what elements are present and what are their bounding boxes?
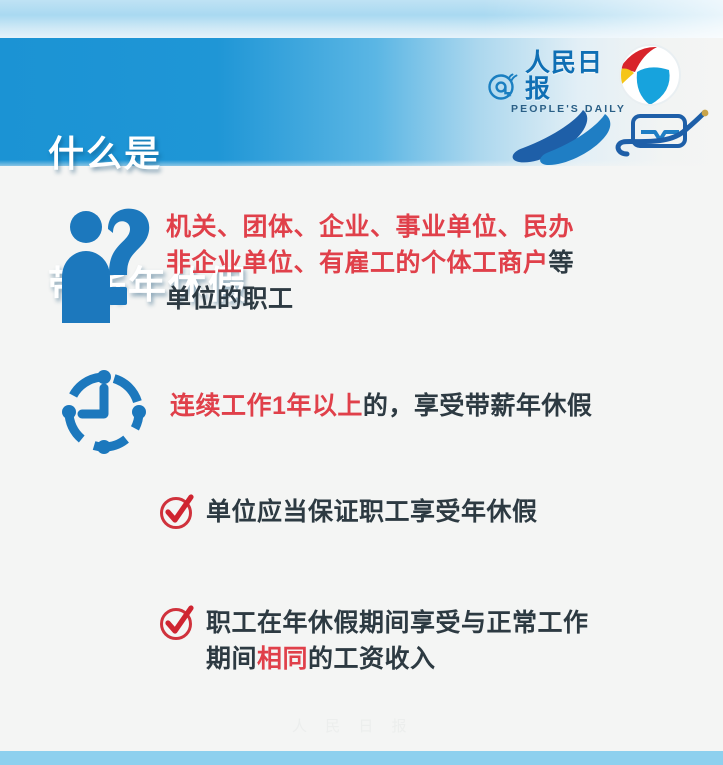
check-circle-icon xyxy=(158,493,196,536)
logo-chinese-name: 人民日报 xyxy=(525,50,617,102)
sky-gradient-strip xyxy=(0,0,723,40)
watermark: 人 民 日 报 xyxy=(292,715,414,736)
infographic-page: 什么是 带薪年休假 人民日报 PEOPLE'S DAILY xyxy=(0,0,723,765)
clock-icon xyxy=(58,366,150,463)
title-line-1: 什么是 xyxy=(48,132,248,176)
at-sign-icon xyxy=(487,68,521,102)
list-item-text: 机关、团体、企业、事业单位、民办 非企业单位、有雇工的个体工商户等 单位的职工 xyxy=(166,209,574,317)
list-item-tail: 的工资收入 xyxy=(308,645,436,673)
bottom-bar xyxy=(0,751,723,765)
list-item-tail: 单位应当保证职工享受年休假 xyxy=(206,498,538,526)
logo-row: 人民日报 xyxy=(487,50,617,102)
list-item-highlight: 相同 xyxy=(257,645,308,673)
list-item: 职工在年休假期间享受与正常工作 期间相同的工资收入 xyxy=(158,604,589,677)
list-item-tail: 的，享受带薪年休假 xyxy=(363,392,593,420)
list-item: 单位应当保证职工享受年休假 xyxy=(158,493,538,536)
snorkel-mask-icon xyxy=(618,110,708,154)
list-item-text: 职工在年休假期间享受与正常工作 期间相同的工资收入 xyxy=(206,605,589,677)
list-item-text: 单位应当保证职工享受年休假 xyxy=(206,494,538,530)
person-question-icon xyxy=(60,205,152,328)
list-item: 连续工作1年以上的，享受带薪年休假 xyxy=(58,366,592,463)
list-item-highlight: 机关、团体、企业、事业单位、民办 非企业单位、有雇工的个体工商户 xyxy=(166,213,574,277)
peoples-daily-logo: 人民日报 PEOPLE'S DAILY xyxy=(487,50,617,98)
check-circle-icon xyxy=(158,604,196,647)
list-item-text: 连续工作1年以上的，享受带薪年休假 xyxy=(170,388,592,424)
beach-gear-icons xyxy=(505,108,710,166)
list-item-highlight: 连续工作1年以上 xyxy=(170,392,363,420)
list-item: 机关、团体、企业、事业单位、民办 非企业单位、有雇工的个体工商户等 单位的职工 xyxy=(60,205,574,328)
beach-ball-icon xyxy=(617,42,683,108)
swim-flippers-icon xyxy=(513,110,611,165)
